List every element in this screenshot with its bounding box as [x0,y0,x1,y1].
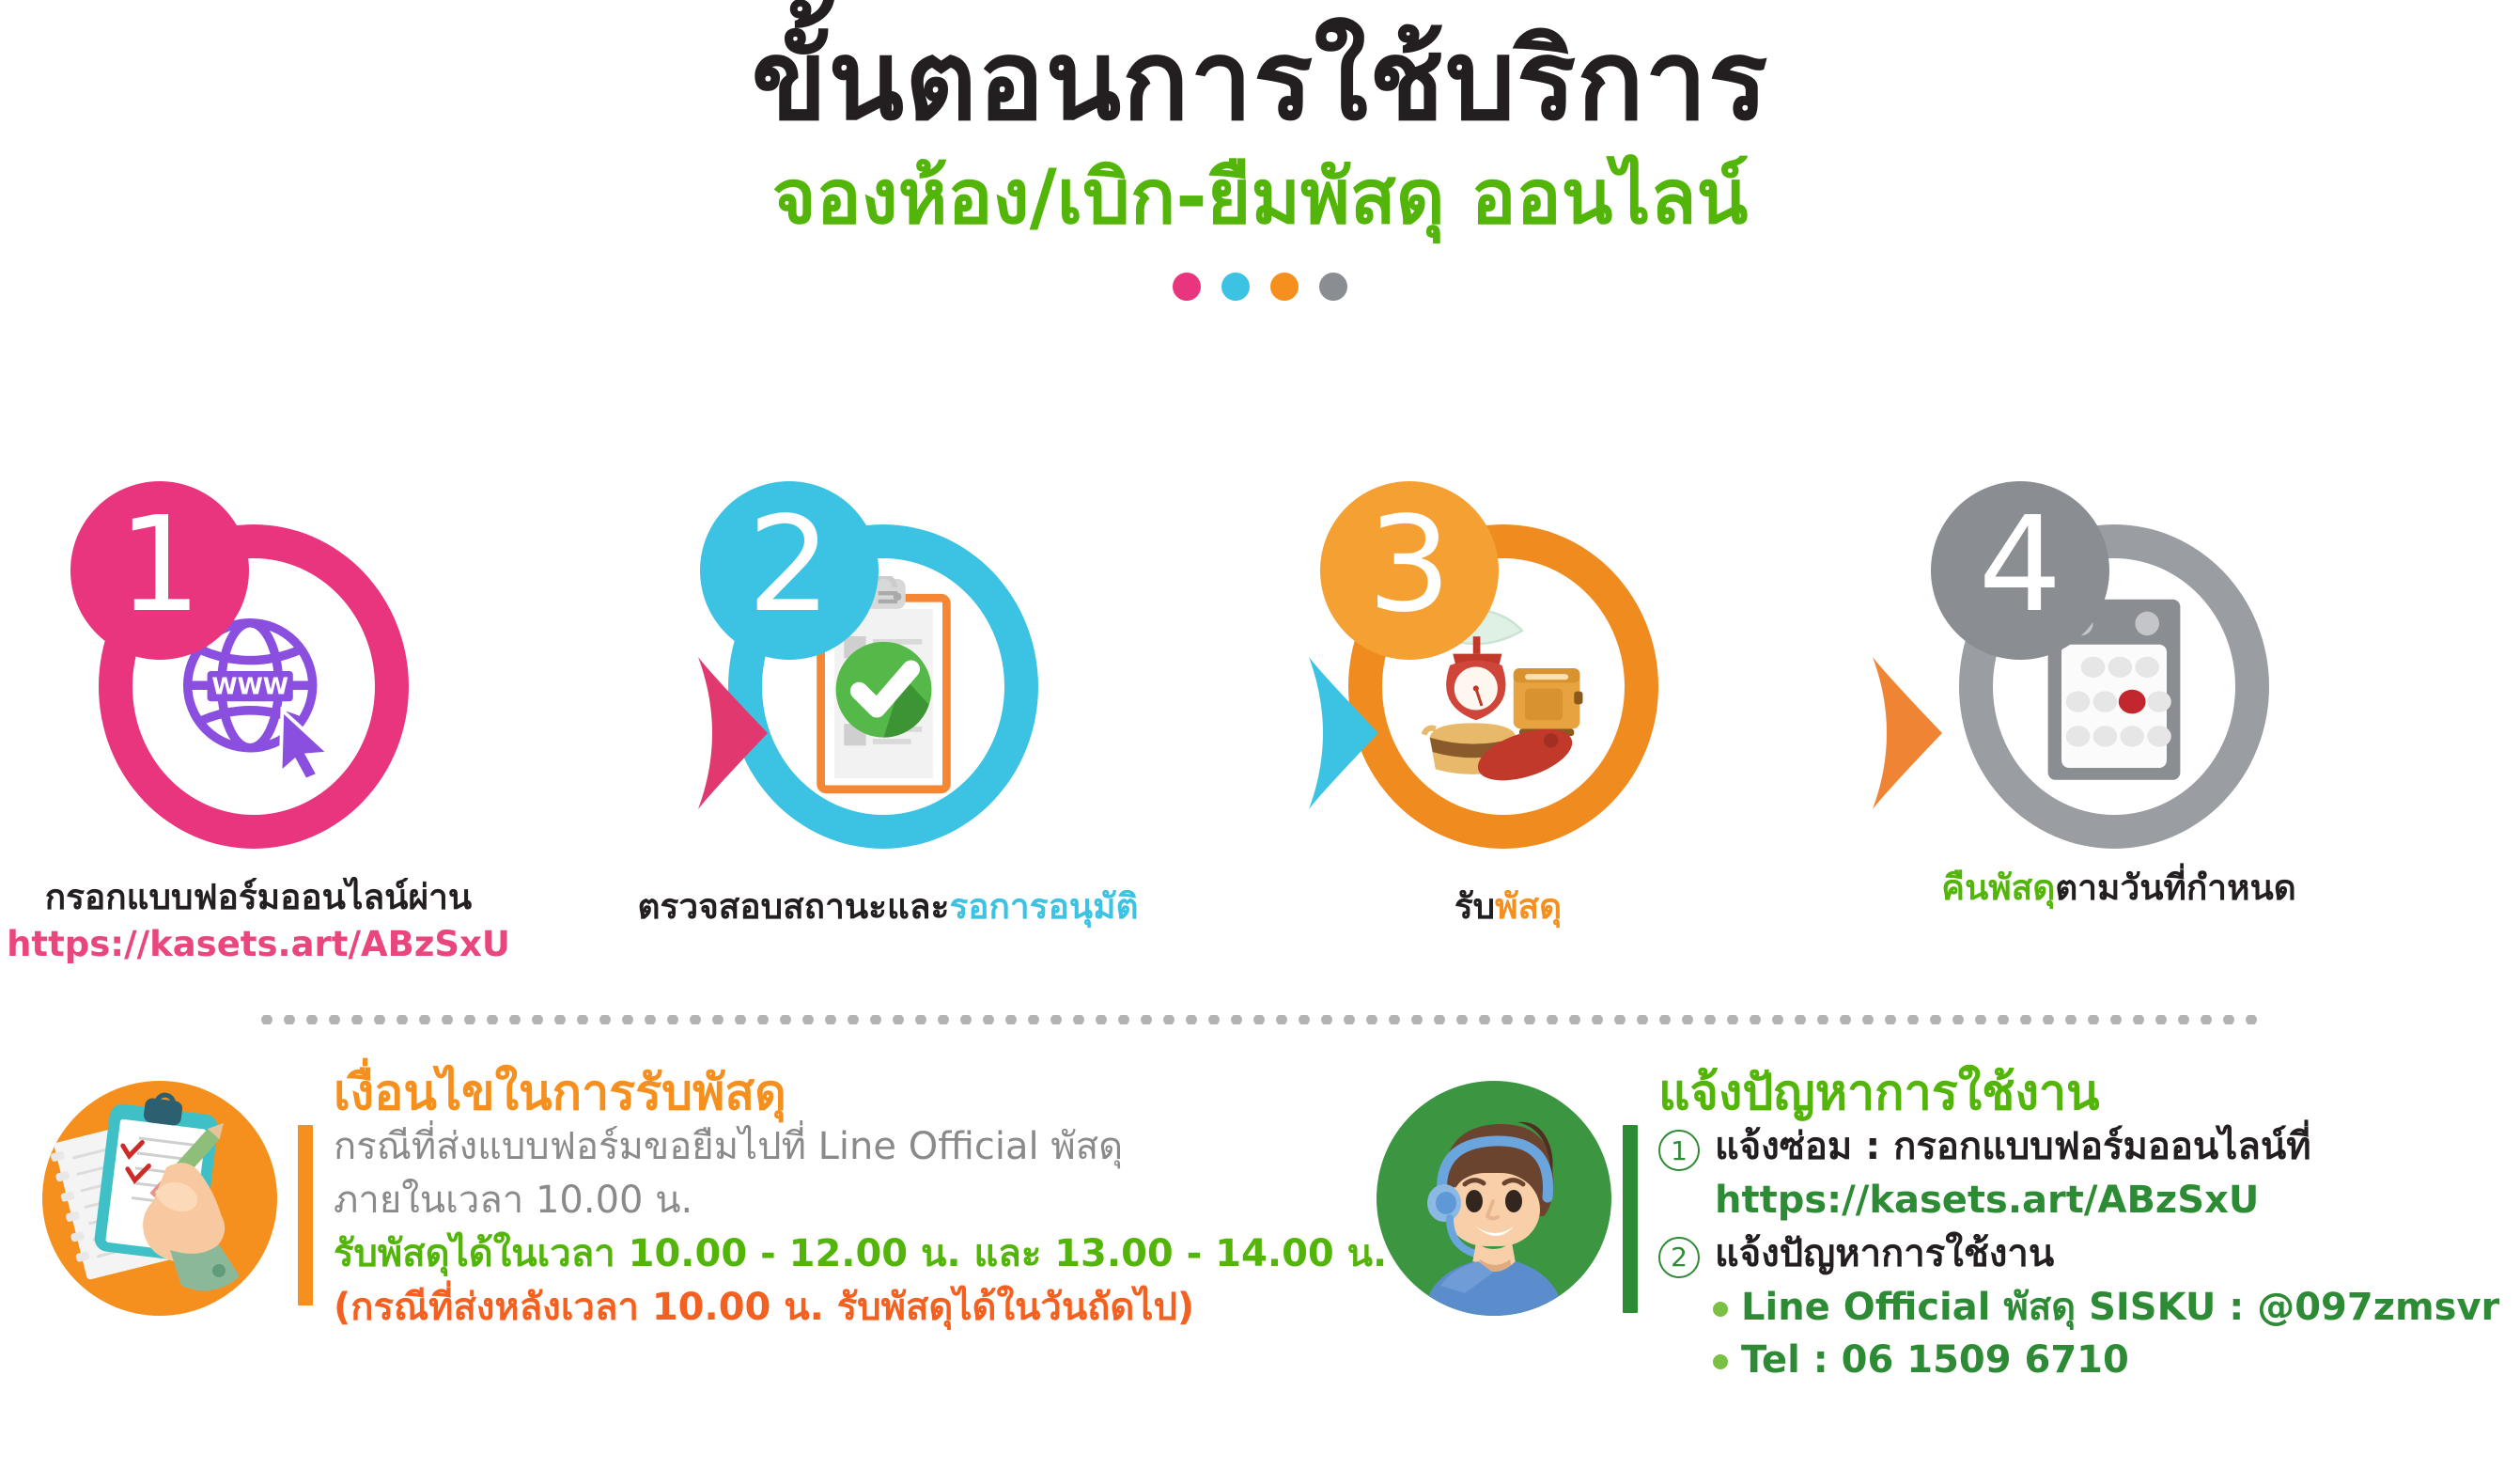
step-3-caption-main: รับ [1454,886,1495,927]
support-item-1-label: แจ้งซ่อม : กรอกแบบฟอร์มออนไลน์ที่ [1715,1120,2311,1174]
arrow-orange-icon [1865,653,1950,813]
step-1-ring-wrap: 1 WWW [70,489,446,865]
pickup-conditions-line-3: รับพัสดุได้ในเวลา 10.00 - 12.00 น. และ 1… [334,1227,1283,1281]
step-1: 1 WWW กรอกแบบฟอร์มออนไลน์ผ่าน [52,489,465,865]
dotted-divider [256,1015,2266,1024]
decorative-dot-row [0,273,2520,301]
pickup-conditions-line-2: ภายในเวลา 10.00 น. [334,1174,1283,1227]
page-subtitle: จองห้อง/เบิก-ยืมพัสดุ ออนไลน์ [0,156,2520,239]
support-contact-text: แจ้งปัญหาการใช้งาน 1 แจ้งซ่อม : กรอกแบบฟ… [1658,1067,2485,1387]
hand-writing-checklist-icon [42,1081,277,1316]
step-3-caption: รับพัสดุ [1245,883,1771,930]
support-item-1: 1 แจ้งซ่อม : กรอกแบบฟอร์มออนไลน์ที่ [1658,1120,2485,1174]
step-1-caption-url[interactable]: https://kasets.art/ABzSxU [0,921,521,968]
step-1-caption-main: กรอกแบบฟอร์มออนไลน์ผ่าน [45,877,472,917]
bullet-dot-icon [1713,1354,1728,1369]
step-3-caption-accent: พัสดุ [1495,886,1562,927]
page-title: ขั้นตอนการใช้บริการ [0,23,2520,139]
pickup-conditions-line-4: (กรณีที่ส่งหลังเวลา 10.00 น. รับพัสดุได้… [334,1281,1283,1335]
step-2-number-badge: 2 [700,481,879,660]
header-dot-orange [1270,273,1299,301]
step-2-caption: ตรวจสอบสถานะและรอการอนุมัติ [625,883,1151,930]
step-4: 4 คืนพัสดุตามวันที่กำหนด [1912,489,2326,865]
header-dot-pink [1173,273,1201,301]
step-3-number-badge: 3 [1320,481,1499,660]
step-1-caption: กรอกแบบฟอร์มออนไลน์ผ่าน https://kasets.a… [0,874,521,968]
left-accent-bar [298,1125,313,1305]
support-item-2: 2 แจ้งปัญหาการใช้งาน [1658,1227,2485,1281]
pickup-conditions-heading: เงื่อนไขในการรับพัสดุ [334,1067,1283,1120]
step-4-ring-wrap: 4 [1931,489,2307,865]
support-line-officiel: Line Official พัสดุ SISKU : @097zmsvr [1741,1281,2499,1335]
step-4-caption-accent: คืนพัสดุ [1941,867,2055,908]
svg-text:WWW: WWW [211,672,288,699]
pickup-conditions-text: เงื่อนไขในการรับพัสดุ กรณีที่ส่งแบบฟอร์ม… [334,1067,1283,1334]
support-telephone: Tel : 06 1509 6710 [1741,1334,2129,1387]
header-dot-cyan [1221,273,1250,301]
support-item-1-url[interactable]: https://kasets.art/ABzSxU [1658,1174,2485,1227]
arrow-pink-icon [691,653,775,813]
support-bullet-tel: Tel : 06 1509 6710 [1658,1334,2485,1387]
steps-row: 1 WWW กรอกแบบฟอร์มออนไลน์ผ่าน [0,489,2520,1015]
support-item-1-marker: 1 [1658,1130,1700,1171]
support-item-2-label: แจ้งปัญหาการใช้งาน [1715,1227,2054,1281]
support-bullet-line: Line Official พัสดุ SISKU : @097zmsvr [1658,1281,2485,1335]
step-4-caption-main: ตามวันที่กำหนด [2055,867,2296,908]
bullet-dot-icon [1713,1302,1728,1317]
step-2-caption-accent: รอการอนุมัติ [949,886,1138,927]
step-4-number-badge: 4 [1931,481,2109,660]
header: ขั้นตอนการใช้บริการ จองห้อง/เบิก-ยืมพัสด… [0,0,2520,301]
support-item-2-marker: 2 [1658,1237,1700,1278]
step-1-number-badge: 1 [70,481,249,660]
right-accent-bar [1623,1125,1638,1313]
support-agent-headset-icon [1377,1081,1611,1316]
header-dot-gray [1319,273,1347,301]
step-2-caption-main: ตรวจสอบสถานะและ [637,886,949,927]
step-4-caption: คืนพัสดุตามวันที่กำหนด [1856,865,2382,912]
pickup-conditions-line-1: กรณีที่ส่งแบบฟอร์มขอยืมไปที่ Line Offici… [334,1120,1283,1174]
arrow-cyan-icon [1301,653,1386,813]
support-heading: แจ้งปัญหาการใช้งาน [1658,1067,2485,1120]
